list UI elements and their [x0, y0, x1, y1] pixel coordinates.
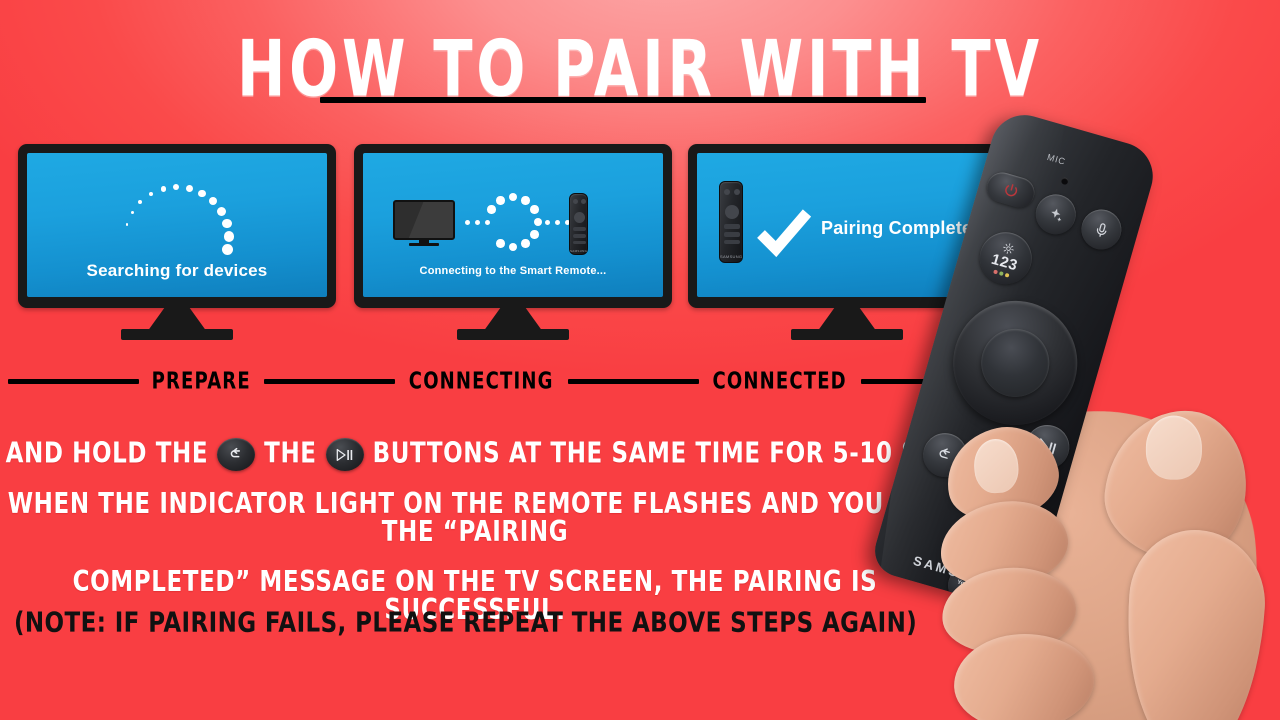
- arc-dot: [126, 223, 129, 226]
- arc-dot: [209, 197, 217, 205]
- instruction-text-part2: THE: [264, 440, 316, 469]
- step-divider-line: [264, 379, 395, 384]
- step-label-row: PREPARE CONNECTING CONNECTED: [0, 366, 1000, 396]
- arc-dot: [161, 186, 166, 191]
- title-block: HOW TO PAIR WITH TV: [0, 24, 1280, 94]
- arc-dot: [173, 184, 179, 190]
- connection-dot: [465, 220, 470, 225]
- dpad-select-button[interactable]: [973, 321, 1057, 405]
- mini-remote-icon: SAMSUNG: [719, 181, 743, 263]
- tv-panel-prepare: Searching for devices: [18, 144, 336, 308]
- infographic-canvas: HOW TO PAIR WITH TV Searching for device…: [0, 0, 1280, 720]
- screen-label-connecting: Connecting to the Smart Remote...: [363, 265, 663, 277]
- screen-label-searching: Searching for devices: [27, 261, 327, 281]
- return-back-icon: [217, 438, 255, 471]
- arc-dot: [131, 211, 134, 214]
- ring-dot: [530, 230, 538, 238]
- tv-stand-base: [457, 329, 569, 340]
- tv-screen-prepare: Searching for devices: [27, 153, 327, 297]
- thumbnail: [1146, 416, 1202, 480]
- connection-dot: [555, 220, 560, 225]
- fingernail: [972, 438, 1020, 495]
- connection-dot: [475, 220, 480, 225]
- mini-remote-icon: SAMSUNG: [569, 193, 588, 255]
- ring-dot: [509, 193, 517, 201]
- ring-dot: [487, 205, 495, 213]
- hand-holding-remote-photo: MIC: [940, 110, 1280, 720]
- arc-dot: [222, 244, 233, 255]
- tv-stand-base: [121, 329, 233, 340]
- step-divider-line: [568, 379, 699, 384]
- connection-dot: [485, 220, 490, 225]
- tv-stand-base: [791, 329, 903, 340]
- mic-hole: [1060, 177, 1069, 186]
- ring-dot: [496, 239, 504, 247]
- instruction-text-part1: PRESS AND HOLD THE: [0, 440, 208, 469]
- ring-dot: [530, 205, 538, 213]
- step-divider-line: [8, 379, 139, 384]
- instruction-line-2: WHEN THE INDICATOR LIGHT ON THE REMOTE F…: [0, 491, 950, 626]
- tv-panel-connecting: SAMSUNG Connecting to the Smart Remote..…: [354, 144, 672, 308]
- step-label-prepare: PREPARE: [152, 368, 251, 395]
- arc-dot: [217, 207, 226, 216]
- step-label-connected: CONNECTED: [713, 368, 847, 395]
- ring-dot: [521, 196, 529, 204]
- play-pause-icon: [326, 438, 364, 471]
- tv-bezel: SAMSUNG Connecting to the Smart Remote..…: [354, 144, 672, 308]
- note-text: (NOTE: IF PAIRING FAILS, PLEASE REPEAT T…: [14, 607, 954, 638]
- instruction-line-1: PRESS AND HOLD THE THE BUTTONS AT THE SA…: [0, 434, 950, 474]
- connection-dot: [545, 220, 550, 225]
- arc-dot: [224, 231, 234, 241]
- checkmark-icon: [757, 207, 811, 261]
- ring-dot: [521, 239, 529, 247]
- tv-bezel: Searching for devices: [18, 144, 336, 308]
- arc-dot: [198, 190, 206, 198]
- ring-dot: [509, 243, 517, 251]
- microphone-button[interactable]: [1077, 205, 1126, 254]
- arc-dot: [222, 219, 232, 229]
- ring-dot: [534, 218, 542, 226]
- arc-dot: [186, 185, 193, 192]
- instruction-text-line2a: WHEN THE INDICATOR LIGHT ON THE REMOTE F…: [8, 488, 943, 548]
- title-underline-rule: [320, 97, 926, 103]
- step-label-connecting: CONNECTING: [409, 368, 554, 395]
- tv-screen-connecting: SAMSUNG Connecting to the Smart Remote..…: [363, 153, 663, 297]
- ring-dot: [496, 196, 504, 204]
- arc-dot: [149, 192, 154, 197]
- arc-dot: [138, 200, 142, 204]
- mini-tv-icon: [393, 200, 455, 244]
